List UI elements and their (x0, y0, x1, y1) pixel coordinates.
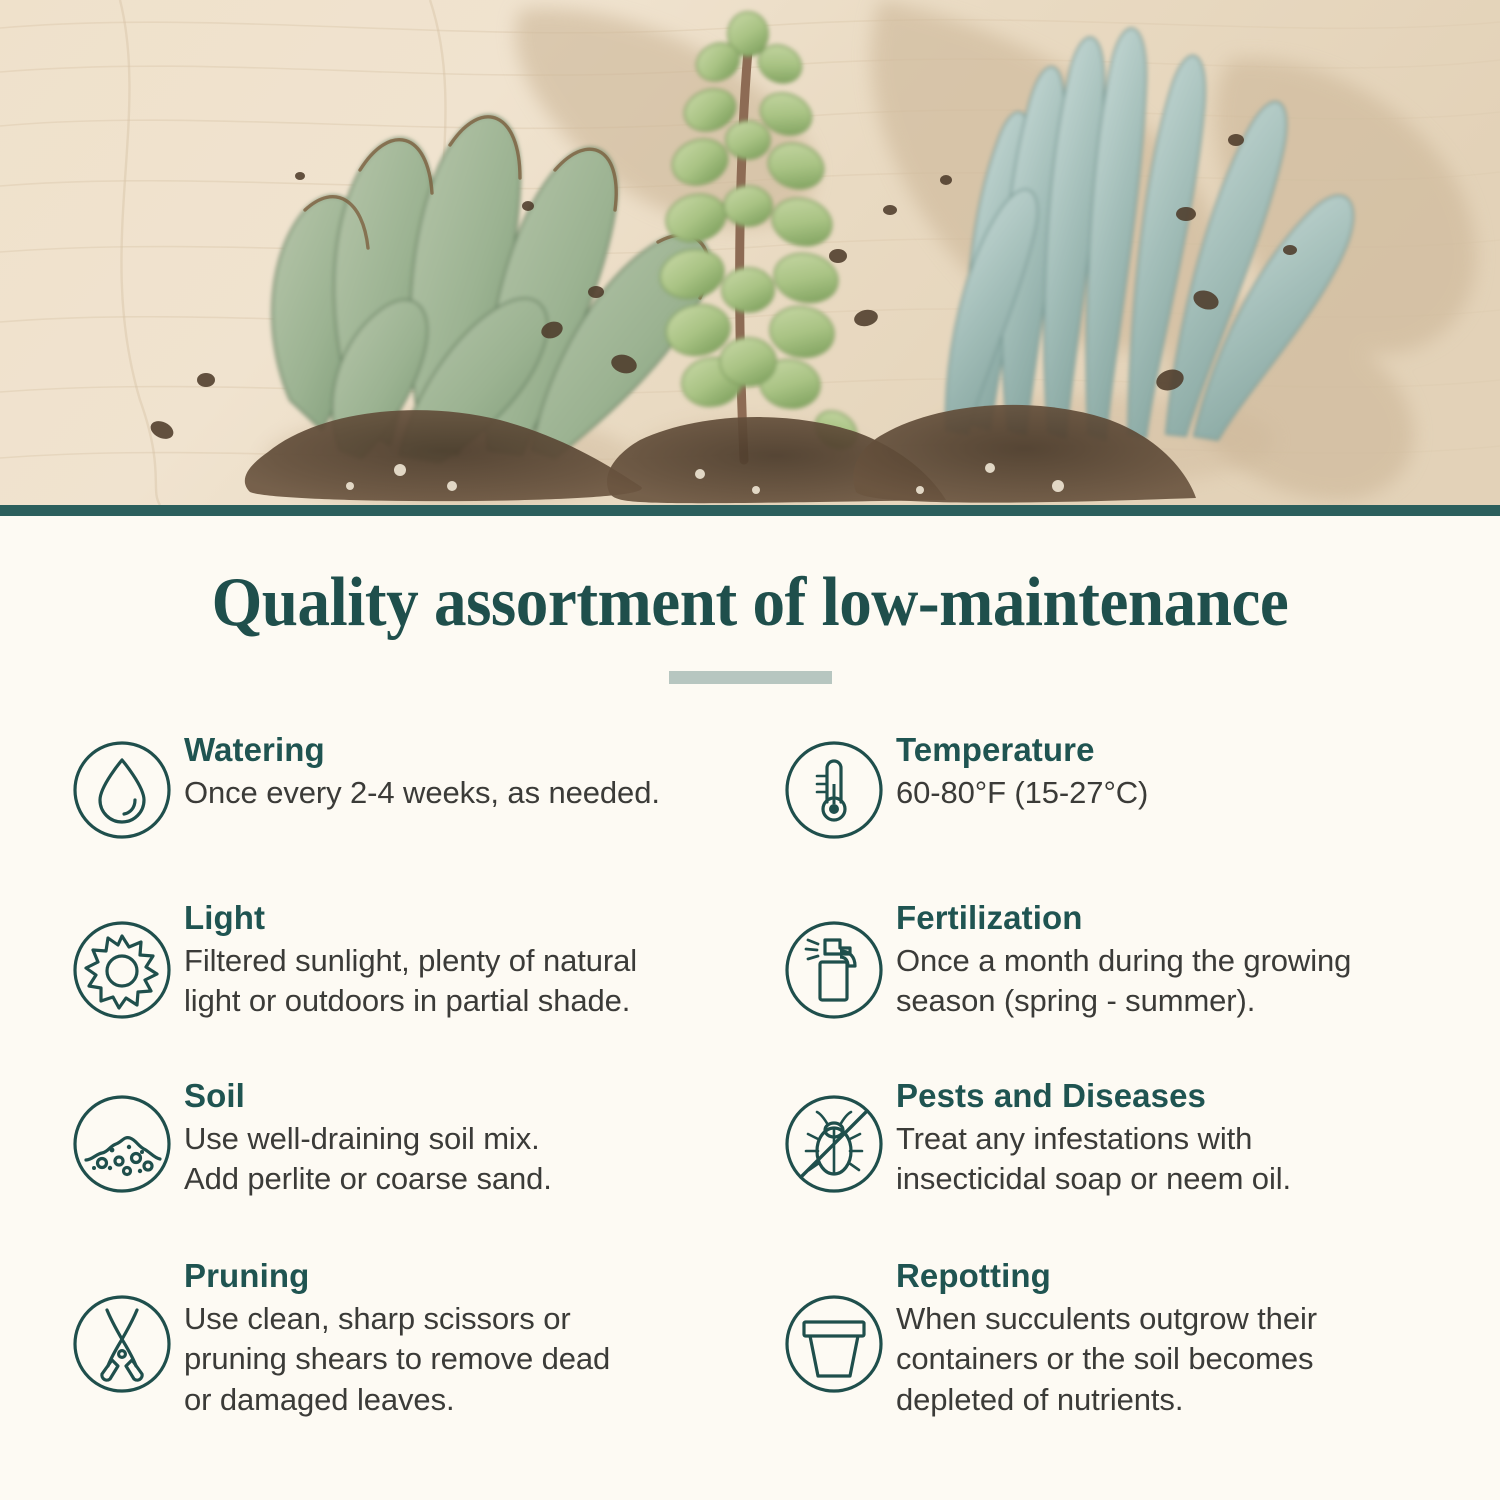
hero-photo-illustration (0, 0, 1500, 505)
tip-title: Fertilization (896, 901, 1445, 936)
sun-icon (60, 898, 184, 1020)
tip-text: Pests and Diseases Treat any infestation… (896, 1076, 1445, 1200)
tip-body: Use well-draining soil mix. Add perlite … (184, 1119, 772, 1200)
tip-body-line: insecticidal soap or neem oil. (896, 1159, 1445, 1199)
tip-title: Pests and Diseases (896, 1079, 1445, 1114)
tip-body-line: pruning shears to remove dead (184, 1339, 772, 1379)
tip-text: Temperature 60-80°F (15-27°C) (896, 730, 1445, 813)
tip-title: Temperature (896, 733, 1445, 768)
tip-body: Filtered sunlight, plenty of natural lig… (184, 941, 772, 1022)
tip-body-line: season (spring - summer). (896, 981, 1445, 1021)
tip-temperature: Temperature 60-80°F (15-27°C) (772, 730, 1445, 898)
tip-watering: Watering Once every 2-4 weeks, as needed… (60, 730, 772, 898)
tip-title: Repotting (896, 1259, 1445, 1294)
no-bug-icon (772, 1076, 896, 1194)
tip-light: Light Filtered sunlight, plenty of natur… (60, 898, 772, 1076)
tip-body-line: Filtered sunlight, plenty of natural (184, 941, 772, 981)
tip-fertilization: Fertilization Once a month during the gr… (772, 898, 1445, 1076)
soil-mound-icon (60, 1076, 184, 1194)
tip-body-line: or damaged leaves. (184, 1380, 772, 1420)
tip-repotting: Repotting When succulents outgrow their … (772, 1256, 1445, 1436)
tip-soil: Soil Use well-draining soil mix. Add per… (60, 1076, 772, 1256)
tip-text: Pruning Use clean, sharp scissors or pru… (184, 1256, 772, 1420)
tip-pruning: Pruning Use clean, sharp scissors or pru… (60, 1256, 772, 1436)
tip-body: Treat any infestations with insecticidal… (896, 1119, 1445, 1200)
tip-body-line: Use well-draining soil mix. (184, 1119, 772, 1159)
tip-text: Fertilization Once a month during the gr… (896, 898, 1445, 1022)
tip-body-line: Once a month during the growing (896, 941, 1445, 981)
teal-divider-bar (0, 505, 1500, 516)
tip-title: Soil (184, 1079, 772, 1114)
tip-text: Repotting When succulents outgrow their … (896, 1256, 1445, 1420)
title-underline-rule (669, 671, 832, 684)
tip-title: Pruning (184, 1259, 772, 1294)
tip-body-line: Add perlite or coarse sand. (184, 1159, 772, 1199)
succulent-care-infographic: Quality assortment of low-maintenance Wa… (0, 0, 1500, 1500)
care-guide-content: Quality assortment of low-maintenance Wa… (0, 516, 1500, 1500)
tip-body-line: Use clean, sharp scissors or (184, 1299, 772, 1339)
tip-title: Watering (184, 733, 772, 768)
pruning-shears-icon (60, 1256, 184, 1394)
tip-body: Once every 2-4 weeks, as needed. (184, 773, 772, 813)
tip-text: Light Filtered sunlight, plenty of natur… (184, 898, 772, 1022)
tip-title: Light (184, 901, 772, 936)
tip-pests-and-diseases: Pests and Diseases Treat any infestation… (772, 1076, 1445, 1256)
tip-body-line: 60-80°F (15-27°C) (896, 773, 1445, 813)
tip-body-line: containers or the soil becomes (896, 1339, 1445, 1379)
hero-photo (0, 0, 1500, 505)
tip-text: Watering Once every 2-4 weeks, as needed… (184, 730, 772, 813)
tip-text: Soil Use well-draining soil mix. Add per… (184, 1076, 772, 1200)
tip-body-line: When succulents outgrow their (896, 1299, 1445, 1339)
spray-bottle-icon (772, 898, 896, 1020)
tip-body: When succulents outgrow their containers… (896, 1299, 1445, 1420)
tip-body: Use clean, sharp scissors or pruning she… (184, 1299, 772, 1420)
flower-pot-icon (772, 1256, 896, 1394)
thermometer-icon (772, 730, 896, 840)
tip-body: 60-80°F (15-27°C) (896, 773, 1445, 813)
page-title: Quality assortment of low-maintenance (53, 516, 1448, 638)
tip-body-line: depleted of nutrients. (896, 1380, 1445, 1420)
tip-body: Once a month during the growing season (… (896, 941, 1445, 1022)
tip-body-line: light or outdoors in partial shade. (184, 981, 772, 1021)
tip-body-line: Once every 2-4 weeks, as needed. (184, 773, 772, 813)
care-tips-grid: Watering Once every 2-4 weeks, as needed… (0, 730, 1500, 1436)
water-drop-icon (60, 730, 184, 840)
tip-body-line: Treat any infestations with (896, 1119, 1445, 1159)
